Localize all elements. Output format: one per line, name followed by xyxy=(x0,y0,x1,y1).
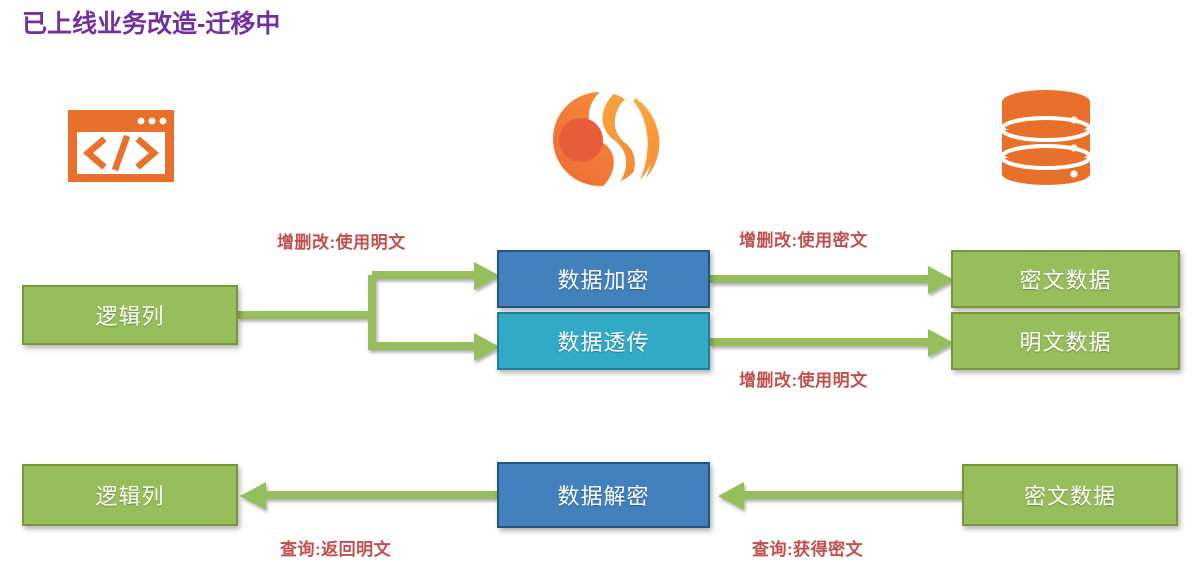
edge-label-crud-use-plain-right: 增删改:使用明文 xyxy=(739,366,868,391)
database-icon xyxy=(1000,88,1092,188)
edge-logicalcol-to-fork xyxy=(238,262,500,361)
node-data-encrypt[interactable]: 数据加密 xyxy=(497,250,710,308)
edge-cipherdata-to-decrypt xyxy=(718,482,962,510)
node-data-passthrough[interactable]: 数据透传 xyxy=(497,312,710,370)
edge-decrypt-to-logicalcol xyxy=(240,482,497,510)
node-cipher-data-top[interactable]: 密文数据 xyxy=(951,250,1180,308)
node-data-decrypt[interactable]: 数据解密 xyxy=(497,462,710,528)
edge-label-crud-use-plain-left: 增删改:使用明文 xyxy=(277,228,406,253)
node-cipher-data-bottom[interactable]: 密文数据 xyxy=(962,464,1178,526)
edge-label-query-return-plain: 查询:返回明文 xyxy=(280,535,391,560)
node-logical-column-top[interactable]: 逻辑列 xyxy=(22,285,238,345)
edge-label-crud-use-cipher: 增删改:使用密文 xyxy=(739,226,868,251)
node-logical-column-bottom[interactable]: 逻辑列 xyxy=(22,464,238,526)
node-plain-data[interactable]: 明文数据 xyxy=(951,312,1180,370)
edge-passthrough-to-plaindata xyxy=(710,329,954,357)
edge-encrypt-to-cipherdata xyxy=(710,266,954,294)
browser-code-icon xyxy=(68,110,174,182)
edge-label-query-get-cipher: 查询:获得密文 xyxy=(752,535,863,560)
page-title: 已上线业务改造-迁移中 xyxy=(22,4,280,40)
shardingsphere-logo-icon xyxy=(540,80,668,198)
